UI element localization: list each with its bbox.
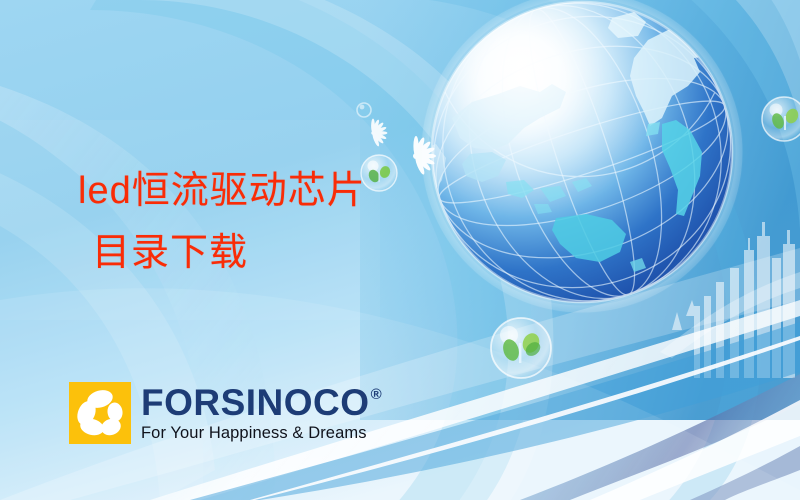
forsinoco-mark-icon	[69, 382, 131, 444]
brand-name-row: FORSINOCO ®	[141, 385, 382, 421]
banner-canvas: led恒流驱动芯片 目录下载	[0, 0, 800, 500]
registered-trademark-icon: ®	[371, 387, 382, 402]
headline-block: led恒流驱动芯片 目录下载	[78, 160, 498, 284]
bubble-icon	[491, 318, 551, 378]
brand-name: FORSINOCO	[141, 385, 370, 421]
bubble-icon	[762, 97, 800, 141]
brand-tagline: For Your Happiness & Dreams	[141, 425, 382, 442]
headline-line-2: 目录下载	[78, 222, 498, 284]
petal-flower-icon	[69, 382, 131, 444]
headline-line-1: led恒流驱动芯片	[78, 160, 498, 222]
brand-wordmark: FORSINOCO ® For Your Happiness & Dreams	[141, 385, 382, 441]
brand-logo-lockup: FORSINOCO ® For Your Happiness & Dreams	[69, 382, 382, 444]
